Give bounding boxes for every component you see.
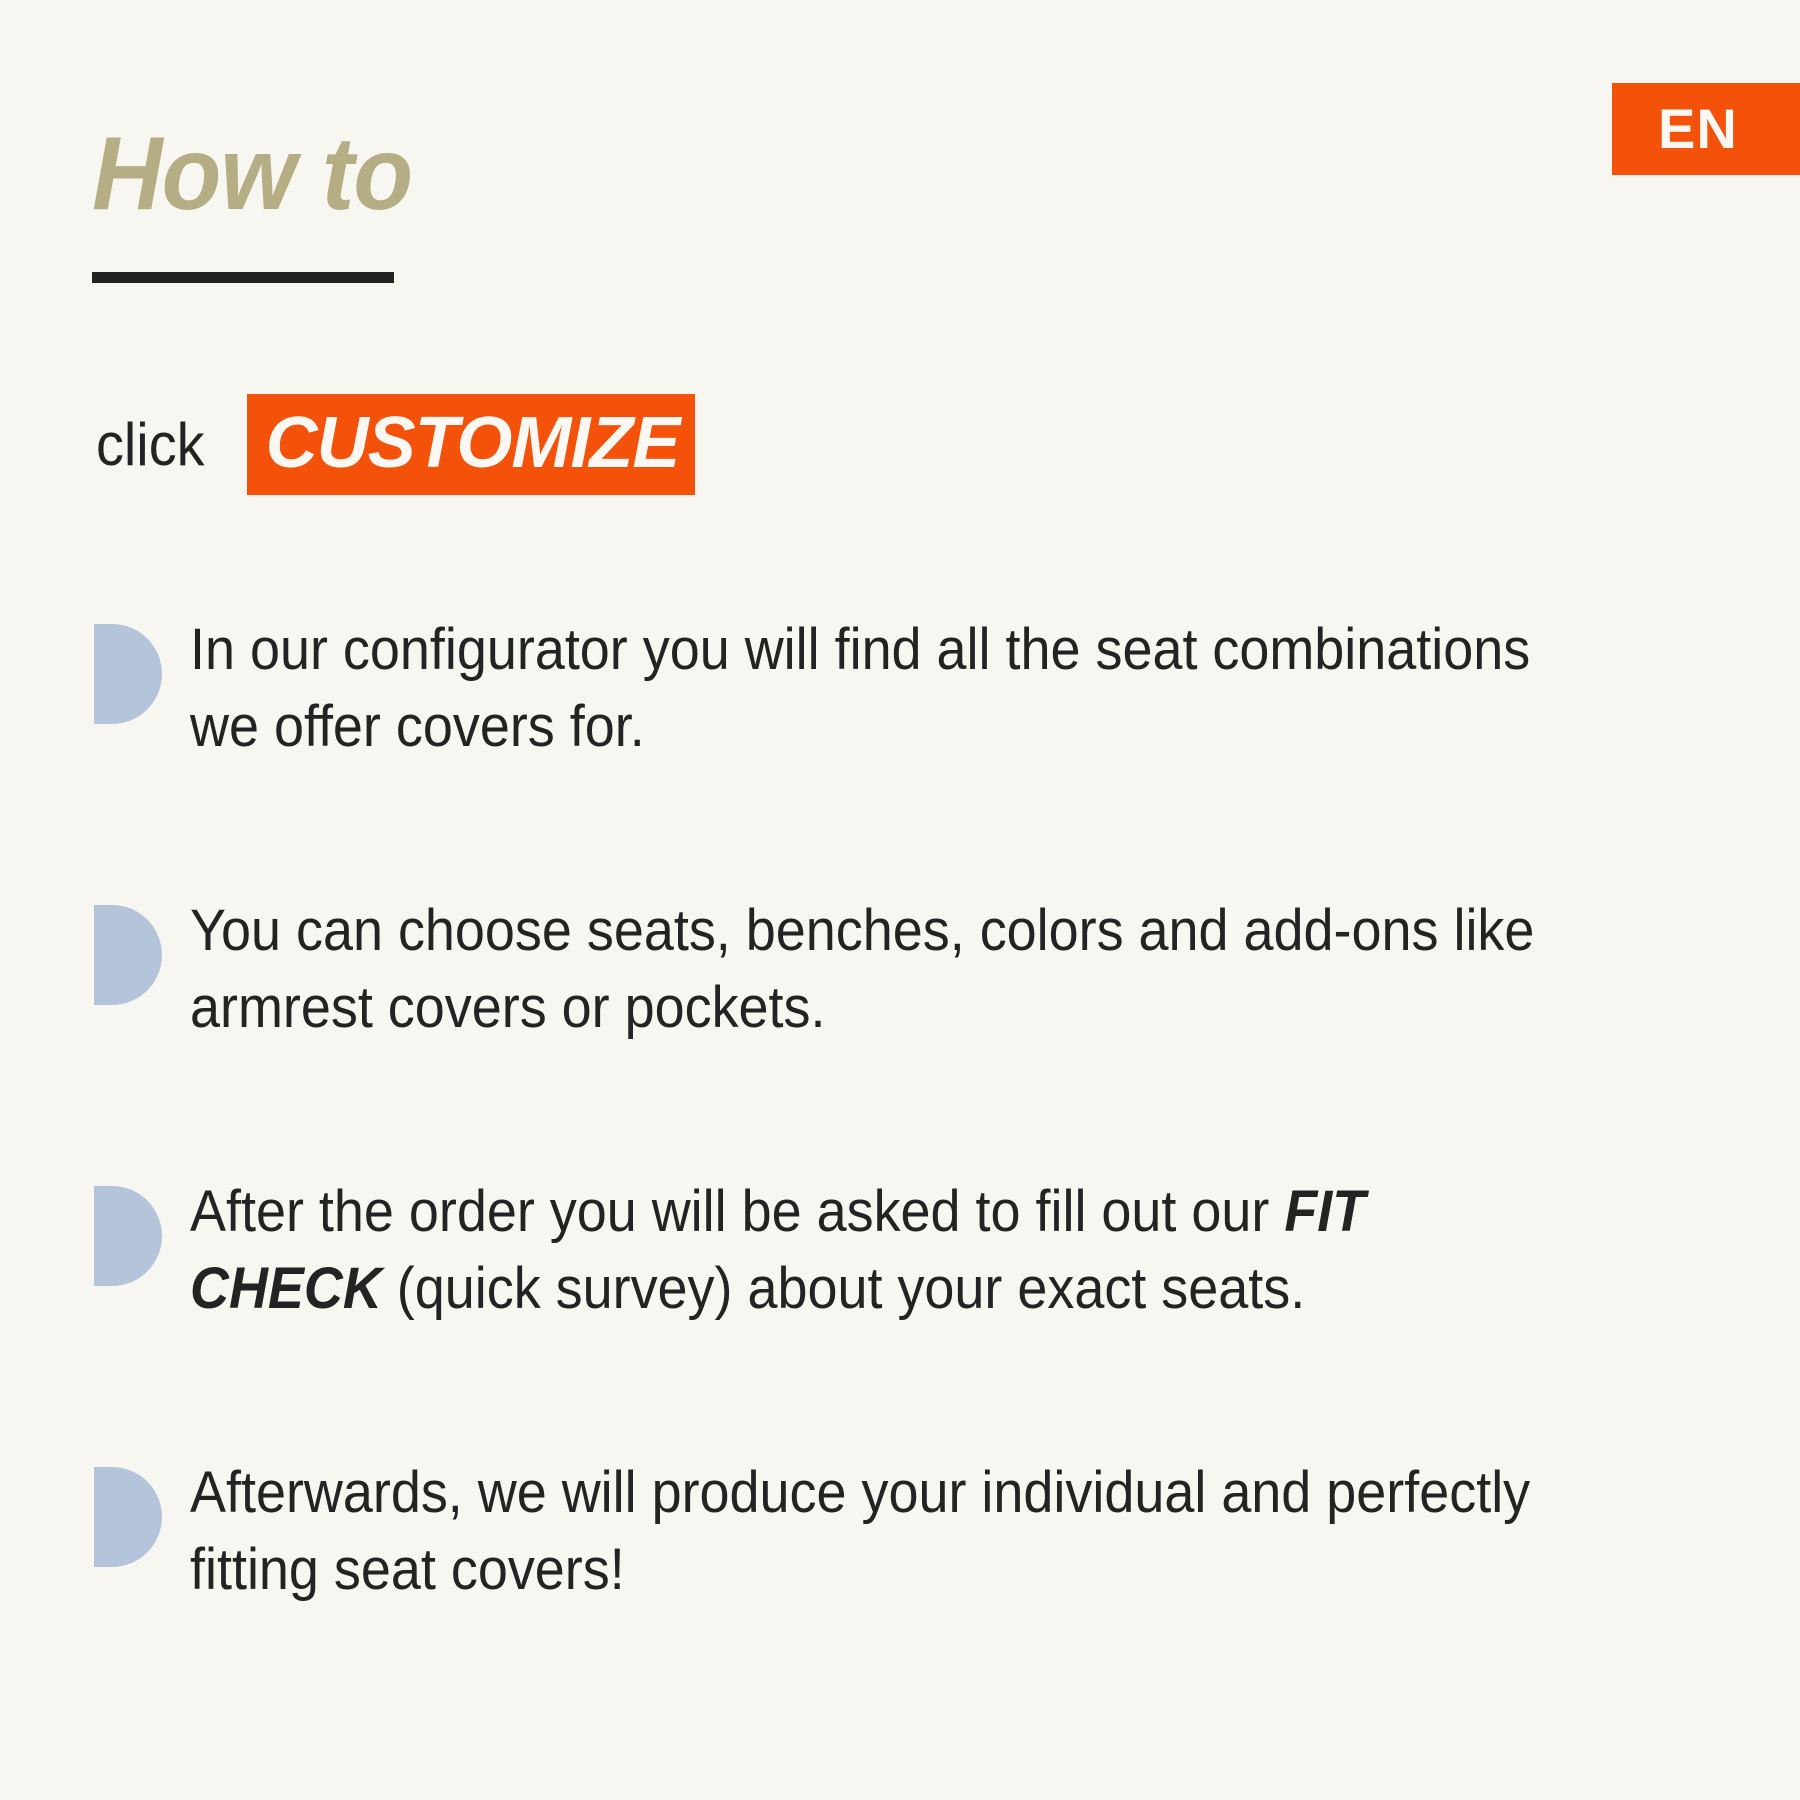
- heading-block: How to: [92, 122, 433, 283]
- list-item-text: You can choose seats, benches, colors an…: [190, 893, 1570, 1046]
- steps-list: In our configurator you will find all th…: [94, 612, 1674, 1608]
- d-shape-bullet-icon: [94, 905, 162, 1005]
- title-underline-rule: [92, 272, 394, 283]
- cta-instruction-line: click CUSTOMIZE: [96, 394, 695, 495]
- cta-prefix-label: click: [96, 415, 205, 475]
- page-title: How to: [92, 122, 412, 226]
- list-item-text: After the order you will be asked to fil…: [190, 1174, 1570, 1327]
- customize-button-label[interactable]: CUSTOMIZE: [247, 394, 696, 495]
- body-text: (quick survey) about your exact seats.: [382, 1256, 1305, 1321]
- d-shape-bullet-icon: [94, 1467, 162, 1567]
- body-text: You can choose seats, benches, colors an…: [190, 898, 1534, 1040]
- list-item: After the order you will be asked to fil…: [94, 1174, 1674, 1327]
- body-text: After the order you will be asked to fil…: [190, 1179, 1284, 1244]
- d-shape-bullet-icon: [94, 1186, 162, 1286]
- d-shape-bullet-icon: [94, 624, 162, 724]
- body-text: In our configurator you will find all th…: [190, 617, 1530, 759]
- list-item: In our configurator you will find all th…: [94, 612, 1674, 765]
- language-badge-label: EN: [1658, 101, 1738, 157]
- list-item: Afterwards, we will produce your individ…: [94, 1455, 1674, 1608]
- body-text: Afterwards, we will produce your individ…: [190, 1460, 1530, 1602]
- language-badge[interactable]: EN: [1612, 83, 1800, 175]
- list-item: You can choose seats, benches, colors an…: [94, 893, 1674, 1046]
- list-item-text: In our configurator you will find all th…: [190, 612, 1570, 765]
- list-item-text: Afterwards, we will produce your individ…: [190, 1455, 1570, 1608]
